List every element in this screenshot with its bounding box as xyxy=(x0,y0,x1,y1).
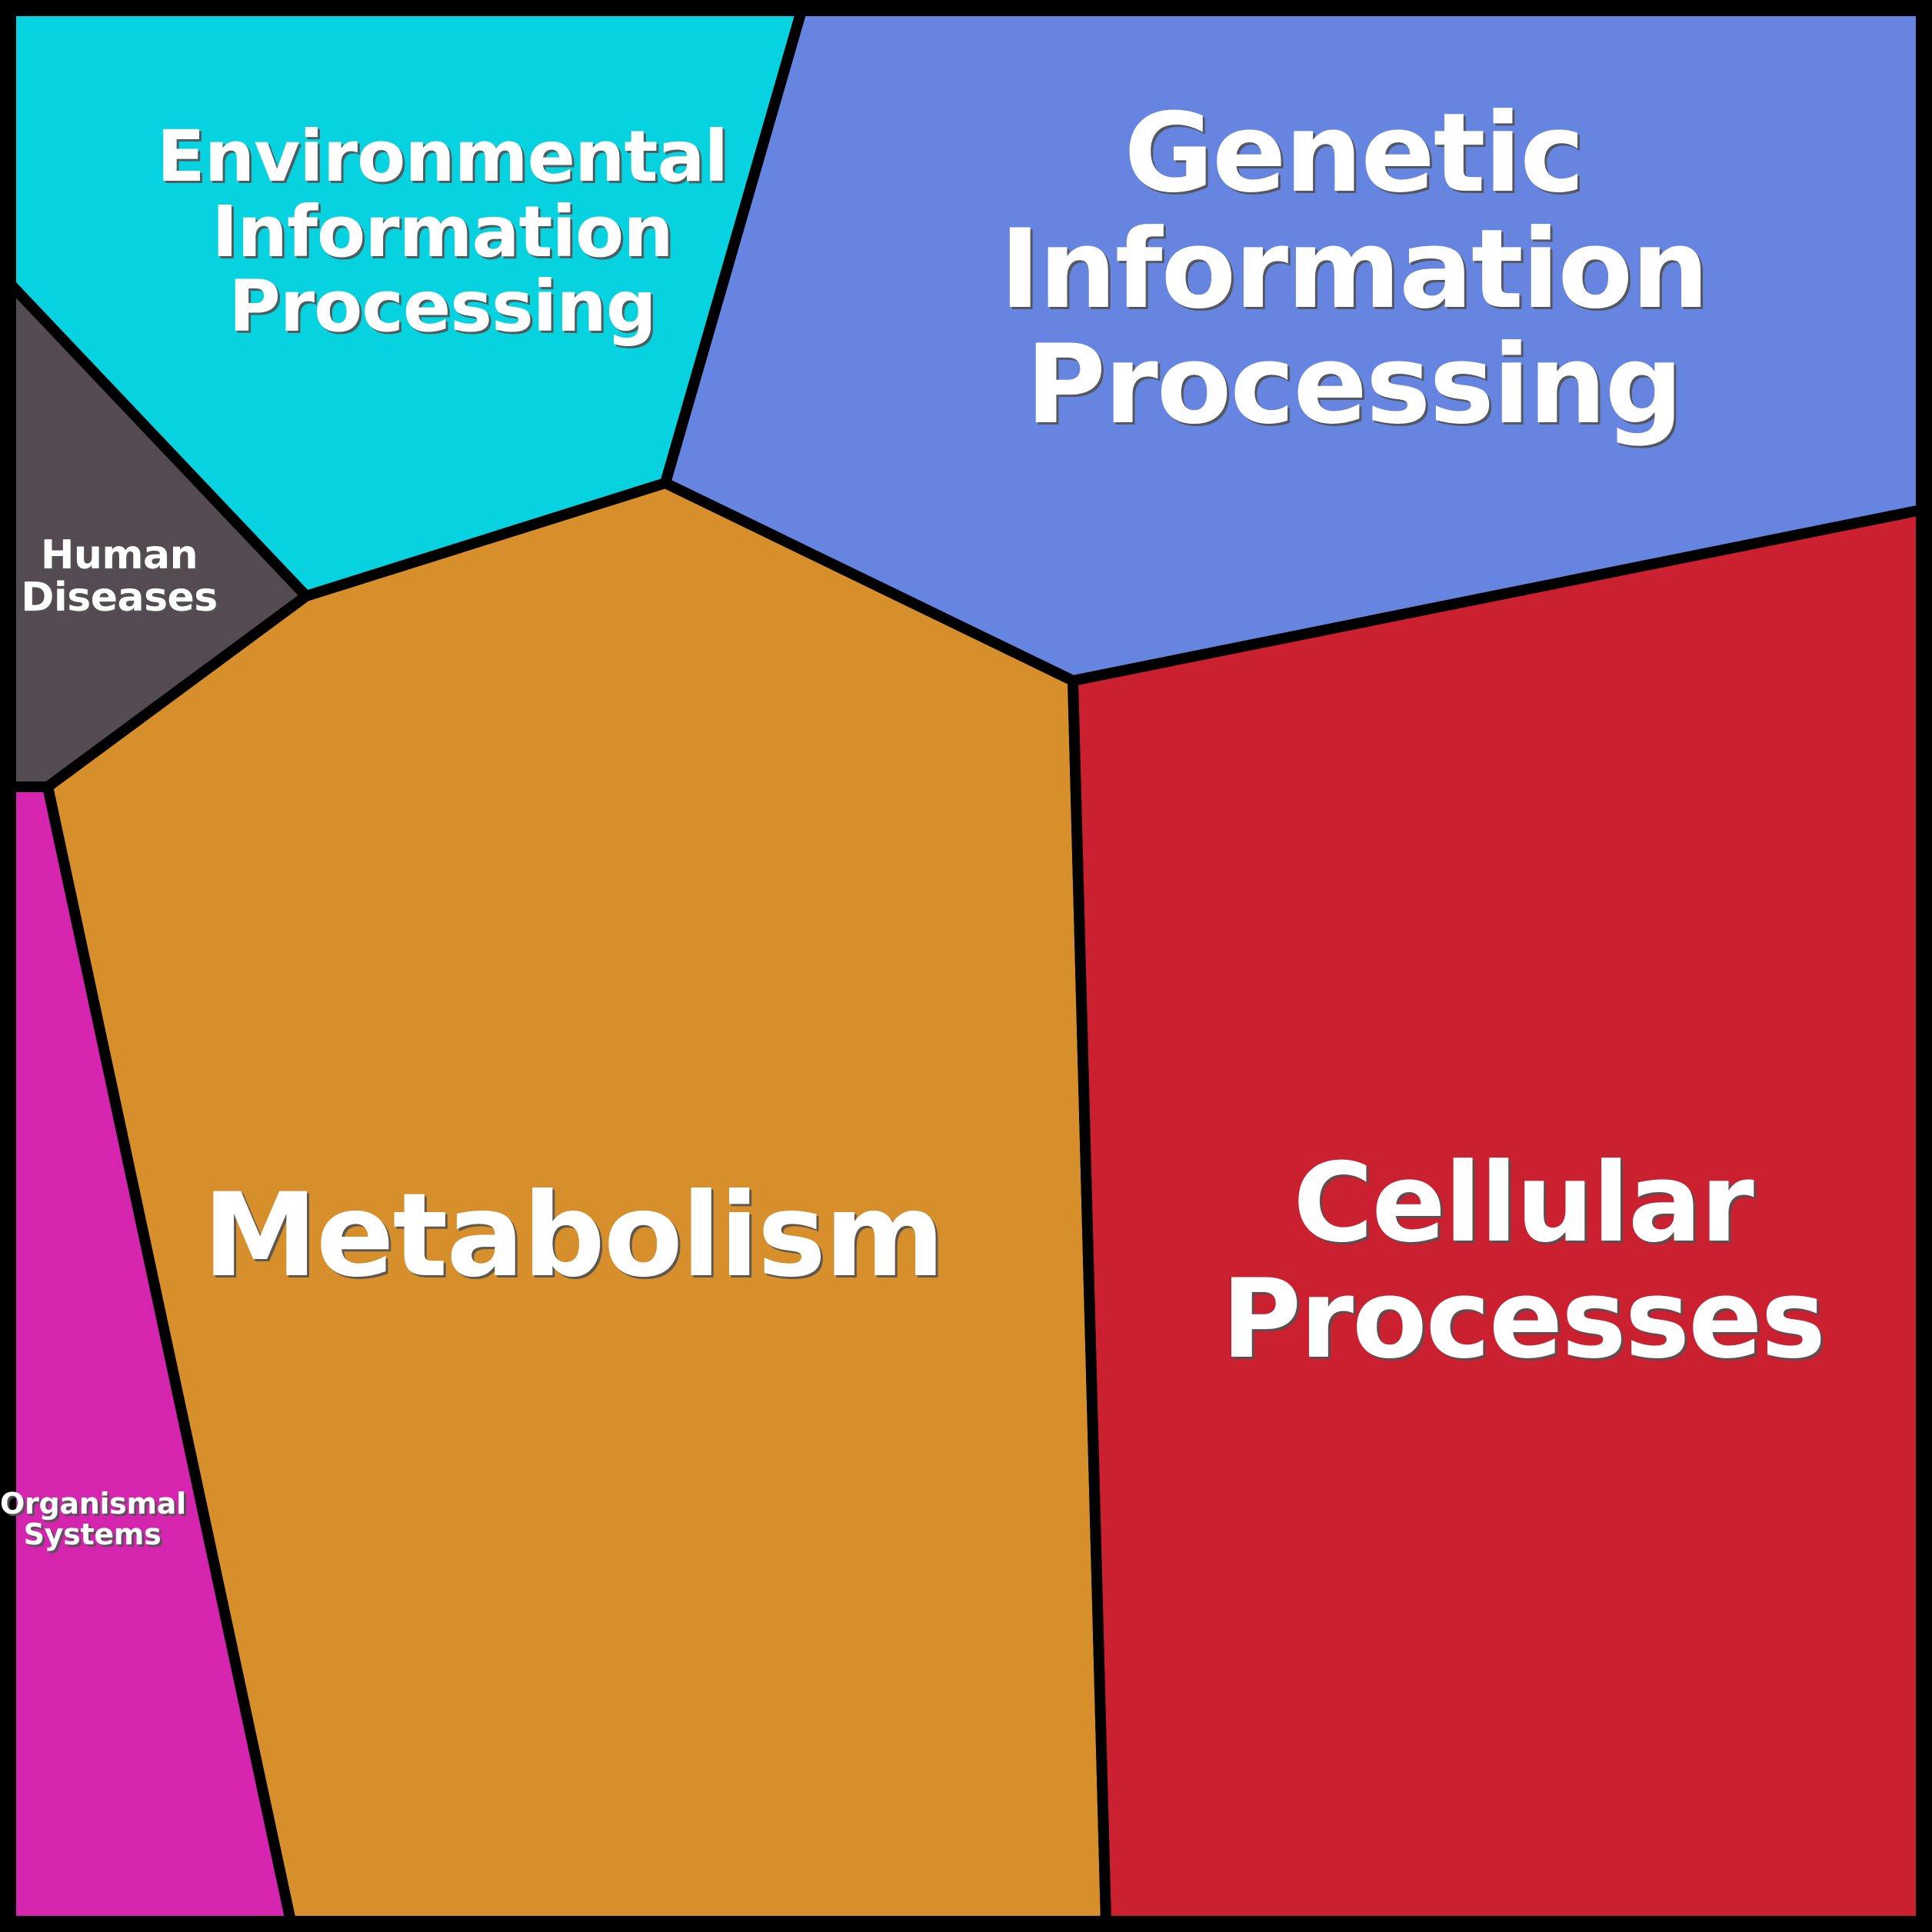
voronoi-cells-group xyxy=(11,11,1921,1921)
voronoi-treemap-figure: Environmental Information Processing Gen… xyxy=(0,0,1932,1932)
voronoi-treemap-canvas xyxy=(0,0,1932,1932)
voronoi-cell-cellular-processes[interactable] xyxy=(1073,510,1921,1921)
